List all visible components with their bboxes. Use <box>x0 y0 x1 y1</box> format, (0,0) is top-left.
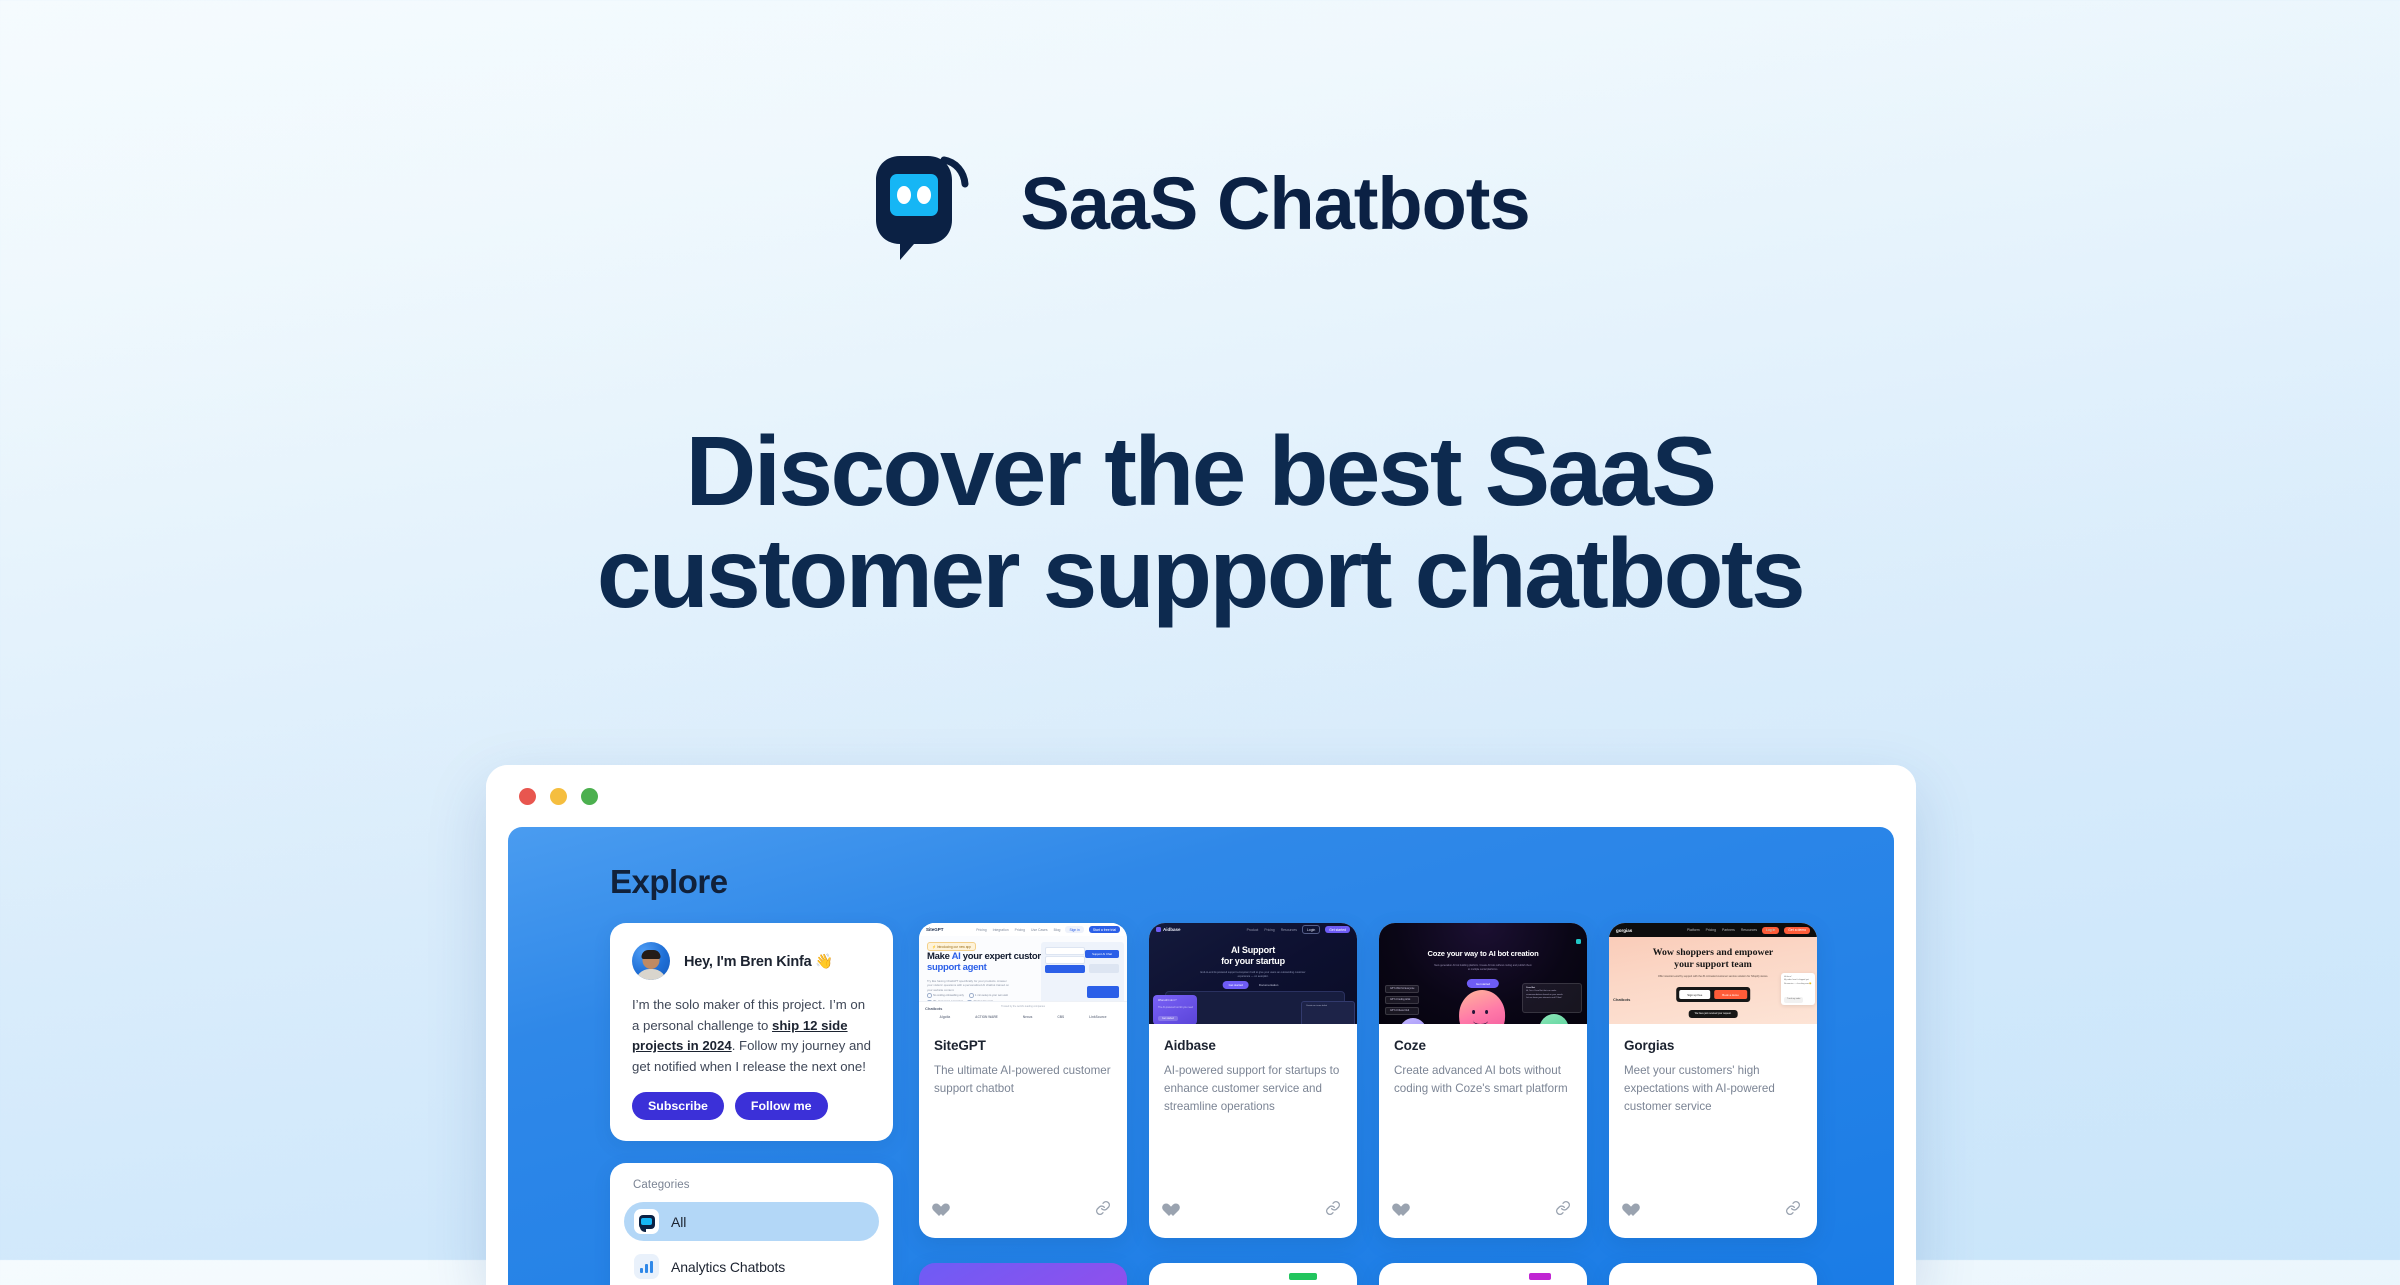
thumb-headline: Wow shoppers and empower your support te… <box>1609 947 1817 971</box>
thumb-paragraph: Offer retention-worthy support with the … <box>1653 975 1773 979</box>
pink-blob-mascot-icon <box>1459 990 1505 1024</box>
tool-card-next[interactable] <box>1609 1263 1817 1285</box>
brand-header: SaaS Chatbots <box>0 148 2400 260</box>
thumb-nav-item: Integration <box>993 928 1009 932</box>
thumb-feature: 1 min setup to your own web <box>969 993 1008 998</box>
tool-card-footer <box>1379 1200 1587 1238</box>
thumb-logo-strip: Chatbots Trusted by the world's leading … <box>919 1001 1127 1024</box>
tool-description: The ultimate AI-powered customer support… <box>934 1062 1112 1098</box>
thumb-headline: Coze your way to AI bot creation <box>1379 949 1587 958</box>
thumb-partner-logo: ACTION WARE <box>975 1015 998 1019</box>
tool-card-body: Aidbase AI-powered support for startups … <box>1149 1024 1357 1200</box>
tool-name: SiteGPT <box>934 1038 1112 1053</box>
thumb-primary-button: Get started <box>1223 981 1249 989</box>
green-blob-mascot-icon <box>1539 1014 1569 1024</box>
thumb-headline-part: your support team <box>1674 959 1752 970</box>
thumb-login: Log in <box>1762 927 1779 934</box>
headline-line-1: Discover the best SaaS <box>350 421 2050 523</box>
headline-line-2: customer support chatbots <box>350 523 2050 625</box>
avatar <box>632 942 670 980</box>
tool-thumbnail: SiteGPT Pricing Integration Pricing Use … <box>919 923 1127 1024</box>
minimize-yellow-icon[interactable] <box>550 788 567 805</box>
thumb-nav-item: Use Cases <box>1031 928 1048 932</box>
sidebar: Hey, I'm Bren Kinfa 👋 I’m the solo maker… <box>610 923 893 1285</box>
link-icon[interactable] <box>1555 1200 1571 1221</box>
thumb-nav-item: Blog <box>1054 928 1061 932</box>
thumb-partner-logo: Algolia <box>940 1015 951 1019</box>
link-icon[interactable] <box>1325 1200 1341 1221</box>
thumb-paragraph: Try like having ChatGPT specifically for… <box>927 979 1011 992</box>
tool-card-aidbase[interactable]: Aidbase Product Pricing Resources Login … <box>1149 923 1357 1238</box>
thumb-chat-line: Let me know your interests and I'll find <box>1526 997 1578 1000</box>
thumb-cta: Get a demo <box>1784 927 1810 934</box>
thumb-partner-logo: CBS <box>1057 1015 1064 1019</box>
tool-card-body: Coze Create advanced AI bots without cod… <box>1379 1024 1587 1200</box>
thumb-badge: ⚡ Introducing our new app <box>927 942 976 951</box>
tool-name: Gorgias <box>1624 1038 1802 1053</box>
thumb-right-title: Create an issue ticket <box>1306 1005 1327 1007</box>
thumb-login: Login <box>1302 925 1320 934</box>
thumb-headline: AI Support for your startup <box>1149 945 1357 967</box>
thumb-section-label: Chatbots <box>1613 997 1630 1002</box>
thumb-nav-item: Pricing <box>1706 928 1716 932</box>
thumb-chat-panel: Coze Bot Hi, I'm a Coze Bot that can mak… <box>1522 983 1582 1013</box>
thumb-headline-part: for your startup <box>1221 956 1285 966</box>
thumb-cta: Get started <box>1325 926 1350 933</box>
thumb-headline-part: Make <box>927 951 952 962</box>
link-icon[interactable] <box>1095 1200 1111 1221</box>
profile-bio: I’m the solo maker of this project. I’m … <box>632 995 871 1077</box>
purple-blob-mascot-icon <box>1399 1018 1427 1024</box>
tool-cards-grid: SiteGPT Pricing Integration Pricing Use … <box>919 923 1880 1285</box>
thumb-nav-item: Product <box>1247 928 1259 932</box>
subscribe-button[interactable]: Subscribe <box>632 1092 724 1120</box>
thumb-side-button: Get started <box>1158 1016 1178 1021</box>
thumb-section-label: Chatbots <box>925 1006 942 1011</box>
maker-profile-card: Hey, I'm Bren Kinfa 👋 I’m the solo maker… <box>610 923 893 1141</box>
heart-icon[interactable] <box>1165 1204 1180 1218</box>
thumb-nav-item: Pricing <box>976 928 986 932</box>
explore-content: Hey, I'm Bren Kinfa 👋 I’m the solo maker… <box>610 923 1880 1285</box>
thumb-paragraph: Next-generation AI bot building platform… <box>1433 964 1533 972</box>
link-icon[interactable] <box>1785 1200 1801 1221</box>
profile-actions: Subscribe Follow me <box>632 1092 871 1120</box>
thumb-logo: Aidbase <box>1156 927 1181 932</box>
thumb-right-card: Create an issue ticket <box>1301 1001 1355 1024</box>
brand-title: SaaS Chatbots <box>1020 167 1529 241</box>
tool-card-footer <box>919 1200 1127 1238</box>
thumb-feature: No coding onboarding only <box>927 993 964 998</box>
thumb-chat-panel: Hi there! My order hasn't shipped yet. N… <box>1781 973 1815 1005</box>
chatbot-icon <box>634 1209 659 1234</box>
tool-description: Meet your customers' high expectations w… <box>1624 1062 1802 1116</box>
thumb-primary-button: Sign up free <box>1679 990 1710 999</box>
tool-description: Create advanced AI bots without coding w… <box>1394 1062 1572 1098</box>
thumb-nav-item: Resources <box>1281 928 1297 932</box>
app-viewport: Explore Hey, I'm Bren Kinfa 👋 I’m the so… <box>508 827 1894 1285</box>
follow-me-button[interactable]: Follow me <box>735 1092 828 1120</box>
tool-card-coze[interactable]: Coze your way to AI bot creation Next-ge… <box>1379 923 1587 1238</box>
thumb-logo: gorgias <box>1616 928 1632 933</box>
thumb-headline-accent: support agent <box>927 962 986 973</box>
thumb-primary-button: Get started <box>1467 979 1499 988</box>
thumb-headline: Make AI your expert customer support age… <box>927 952 1054 973</box>
tool-card-body: SiteGPT The ultimate AI-powered customer… <box>919 1024 1127 1200</box>
thumb-paragraph: End-to-end AI-powered support ecosystem … <box>1198 971 1308 979</box>
tool-thumbnail: Coze your way to AI bot creation Next-ge… <box>1379 923 1587 1024</box>
thumb-partner-logo: LinkSource <box>1089 1015 1106 1019</box>
thumb-cta: Start a free trial <box>1089 926 1120 933</box>
tool-card-body: Gorgias Meet your customers' high expect… <box>1609 1024 1817 1200</box>
profile-header: Hey, I'm Bren Kinfa 👋 <box>632 942 871 980</box>
landing-page: SaaS Chatbots Discover the best SaaS cus… <box>0 0 2400 1260</box>
close-red-icon[interactable] <box>519 788 536 805</box>
thumb-nav-item: Pricing <box>1264 928 1274 932</box>
category-label: All <box>671 1214 686 1230</box>
chatbot-logo-icon <box>870 148 988 260</box>
thumb-side-title: What will it do it ? <box>1158 999 1177 1002</box>
tool-card-gorgias[interactable]: gorgias Platform Pricing Partners Resour… <box>1609 923 1817 1238</box>
thumb-chat-button: Track my order <box>1784 997 1803 1002</box>
heart-icon[interactable] <box>1395 1204 1410 1218</box>
thumb-tooltip: Support AI Chat <box>1085 950 1119 958</box>
thumb-tag: GPT-4 Chess Club <box>1385 1007 1419 1015</box>
heart-icon[interactable] <box>1625 1204 1640 1218</box>
browser-chrome <box>486 765 1916 827</box>
tool-cards-row-2 <box>610 1263 1880 1285</box>
thumb-headline-part: Wow shoppers and empower <box>1653 947 1774 958</box>
thumb-logo: SiteGPT <box>926 927 944 932</box>
thumb-headline-part: your expert customer <box>960 951 1053 962</box>
thumb-tag: GPT-4 Bot for Everyone <box>1385 985 1419 993</box>
profile-greeting: Hey, I'm Bren Kinfa 👋 <box>684 953 833 970</box>
explore-heading: Explore <box>610 863 728 901</box>
thumb-login: Sign in <box>1065 926 1083 933</box>
tool-card-footer <box>1149 1200 1357 1238</box>
tool-card-next[interactable] <box>1379 1263 1587 1285</box>
tool-description: AI-powered support for startups to enhan… <box>1164 1062 1342 1116</box>
thumb-nav-item: Partners <box>1722 928 1735 932</box>
thumb-chat-line: No worries — checking now 😊 <box>1784 983 1812 986</box>
tool-card-sitegpt[interactable]: SiteGPT Pricing Integration Pricing Use … <box>919 923 1127 1238</box>
thumb-nav-item: Platform <box>1687 928 1700 932</box>
thumb-logos-caption: Trusted by the world's leading companies <box>1001 1005 1045 1008</box>
thumb-nav-item: Resources <box>1741 928 1757 932</box>
thumb-side-sub: The AI-powered tool kit you need <box>1158 1006 1193 1009</box>
tool-card-next[interactable] <box>919 1263 1127 1285</box>
heart-icon[interactable] <box>935 1204 950 1218</box>
tool-name: Coze <box>1394 1038 1572 1053</box>
categories-label: Categories <box>633 1179 879 1191</box>
tool-name: Aidbase <box>1164 1038 1342 1053</box>
thumb-partner-logo: Nexus <box>1023 1015 1033 1019</box>
thumb-side-card: What will it do it ? The AI-powered tool… <box>1153 995 1197 1024</box>
thumb-badge-icon <box>1576 939 1581 944</box>
category-item-all[interactable]: All <box>624 1202 879 1241</box>
tool-card-next[interactable] <box>1149 1263 1357 1285</box>
thumb-secondary-button: Documentation <box>1254 981 1283 989</box>
thumb-tag-list: GPT-4 Bot for Everyone GPT-4 Coding Arti… <box>1385 985 1419 1018</box>
thumb-headline-part: AI Support <box>1231 945 1275 955</box>
tool-thumbnail: gorgias Platform Pricing Partners Resour… <box>1609 923 1817 1024</box>
thumb-toast: We have just received your request. <box>1689 1010 1738 1018</box>
tool-thumbnail: Aidbase Product Pricing Resources Login … <box>1149 923 1357 1024</box>
thumb-tag: GPT-4 Coding Artist <box>1385 996 1419 1004</box>
page-title: Discover the best SaaS customer support … <box>350 421 2050 625</box>
browser-mockup: Explore Hey, I'm Bren Kinfa 👋 I’m the so… <box>486 765 1916 1285</box>
maximize-green-icon[interactable] <box>581 788 598 805</box>
tool-card-footer <box>1609 1200 1817 1238</box>
thumb-secondary-button: Book a demo <box>1714 990 1746 999</box>
thumb-nav-item: Pricing <box>1015 928 1025 932</box>
